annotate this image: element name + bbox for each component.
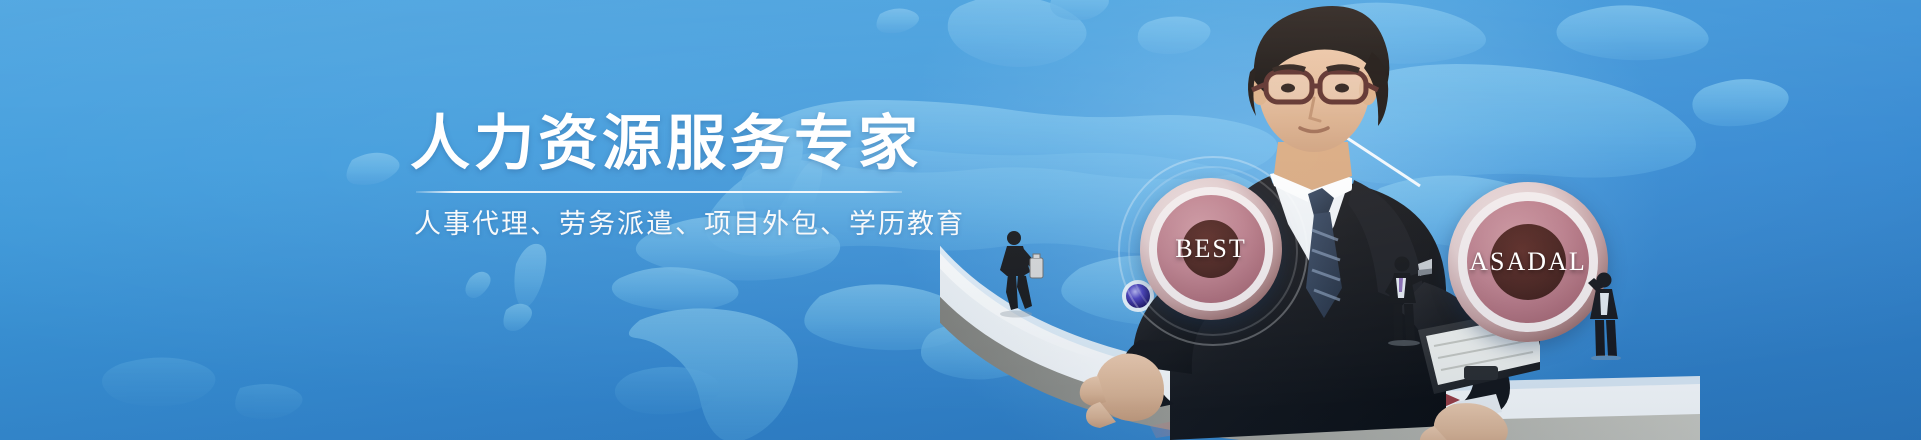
- asadal-badge-label: ASADAL: [1469, 247, 1586, 277]
- best-badge[interactable]: BEST: [1140, 178, 1282, 320]
- best-badge-label: BEST: [1175, 234, 1247, 264]
- page-subtitle: 人事代理、劳务派遣、项目外包、学历教育: [414, 208, 970, 242]
- briefcase-walker-figure: [990, 228, 1044, 318]
- title-divider: [416, 191, 902, 193]
- laptop-presenter-figure: [1374, 250, 1432, 346]
- headline-block: 人力资源服务专家 人事代理、劳务派遣、项目外包、学历教育: [410, 112, 970, 242]
- page-title: 人力资源服务专家: [410, 112, 970, 175]
- lookout-figure: [1576, 264, 1628, 360]
- hero-banner: BEST ASADAL: [0, 0, 1921, 440]
